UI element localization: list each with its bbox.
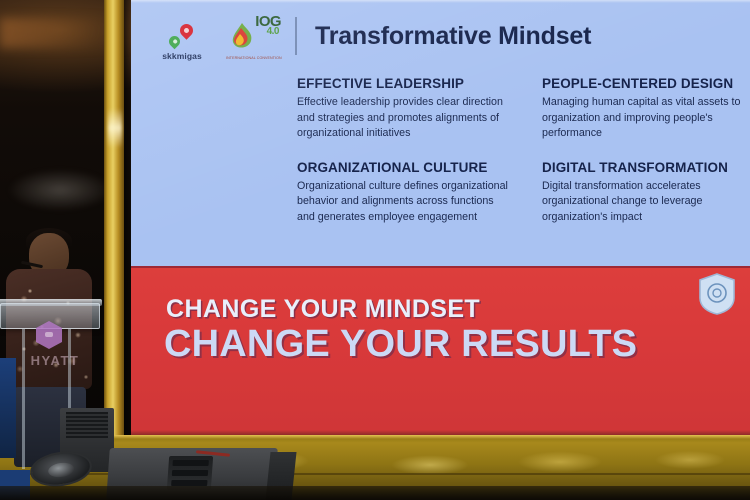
floor-shadow	[0, 486, 750, 500]
topic-title: EFFECTIVE LEADERSHIP	[297, 76, 512, 91]
topic-block-organizational-culture: ORGANIZATIONAL CULTURE Organizational cu…	[297, 160, 512, 226]
header-divider	[295, 17, 297, 55]
topic-body: Effective leadership provides clear dire…	[297, 95, 512, 142]
podium-logo-label: HYATT	[22, 353, 88, 368]
skkmigas-logo-label: skkmigas	[162, 52, 202, 61]
pillar-shadow	[124, 0, 131, 452]
slide-top-edge	[131, 0, 750, 3]
podium-stem-left	[22, 329, 25, 469]
topic-title: PEOPLE-CENTERED DESIGN	[542, 76, 750, 91]
topic-title: ORGANIZATIONAL CULTURE	[297, 160, 512, 175]
slide-red-banner: CHANGE YOUR MINDSET CHANGE YOUR RESULTS	[131, 266, 750, 435]
left-blue-panel	[0, 358, 16, 458]
topic-block-effective-leadership: EFFECTIVE LEADERSHIP Effective leadershi…	[297, 76, 512, 142]
iog-4-0-logo: IOG 4.0 INTERNATIONAL CONVENTION	[225, 12, 281, 60]
badge-emblem-icon	[696, 272, 738, 316]
iog-logo-caption: INTERNATIONAL CONVENTION	[226, 56, 282, 60]
gold-pillar-highlight	[108, 108, 122, 148]
topic-block-people-centered-design: PEOPLE-CENTERED DESIGN Managing human ca…	[542, 76, 750, 142]
topic-body: Digital transformation accelerates organ…	[542, 179, 750, 226]
slide-header: skkmigas IOG 4.0 INTERNATIONAL CONVENTIO…	[131, 8, 750, 64]
slide-title: Transformative Mindset	[315, 22, 591, 51]
stage-monitor-vent	[167, 456, 213, 490]
flame-droplet-icon	[229, 22, 255, 50]
topic-body: Managing human capital as vital assets t…	[542, 95, 750, 142]
slide-column-1: EFFECTIVE LEADERSHIP Effective leadershi…	[297, 76, 512, 243]
topic-title: DIGITAL TRANSFORMATION	[542, 160, 750, 175]
map-pin-icon	[165, 24, 199, 52]
amplifier-grill	[66, 412, 108, 438]
slide-column-2: PEOPLE-CENTERED DESIGN Managing human ca…	[542, 76, 750, 243]
topic-body: Organizational culture defines organizat…	[297, 179, 512, 226]
banner-headline-primary: CHANGE YOUR MINDSET	[166, 295, 480, 324]
skkmigas-logo: skkmigas	[153, 12, 211, 60]
map-pin-green-icon	[167, 33, 183, 49]
banner-headline-secondary: CHANGE YOUR RESULTS	[164, 323, 637, 366]
map-pin-red-icon	[177, 21, 195, 39]
topic-block-digital-transformation: DIGITAL TRANSFORMATION Digital transform…	[542, 160, 750, 226]
presentation-stage-photo: skkmigas IOG 4.0 INTERNATIONAL CONVENTIO…	[0, 0, 750, 500]
iog-logo-sub: 4.0	[267, 27, 279, 37]
